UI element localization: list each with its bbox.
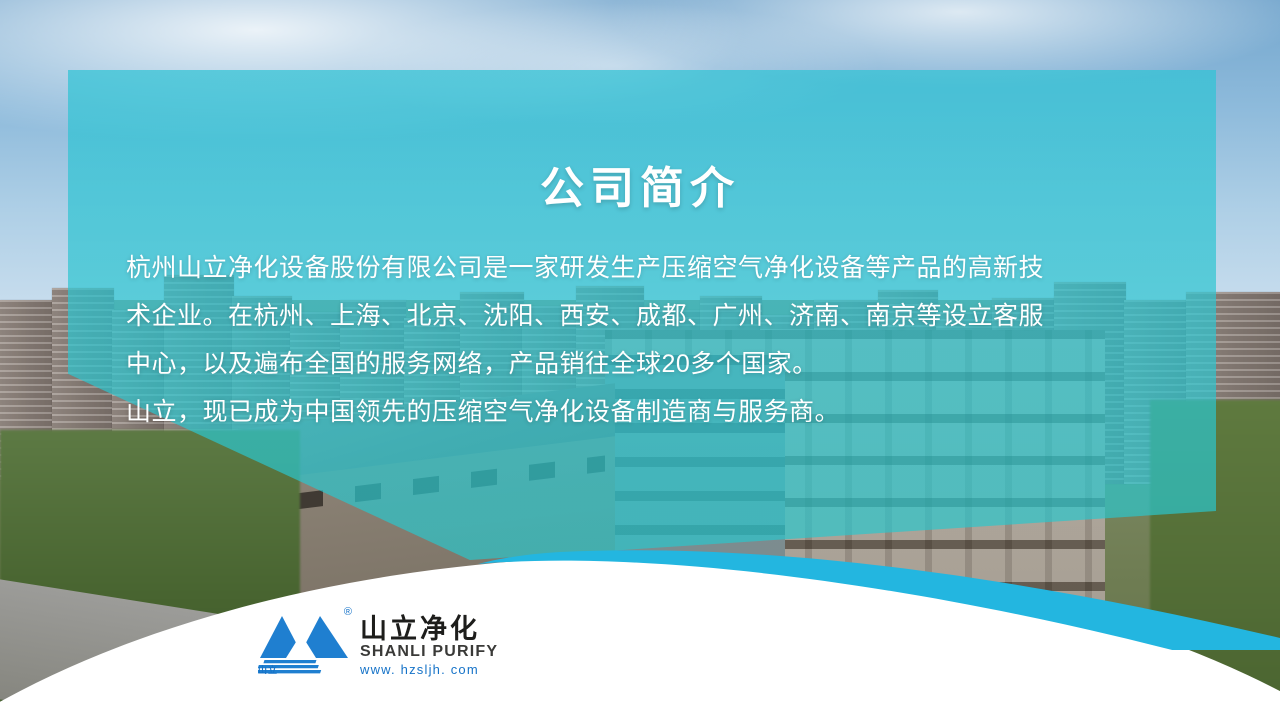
- logo-name-en: SHANLI PURIFY: [360, 643, 498, 661]
- paragraph-line: 山立，现已成为中国领先的压缩空气净化设备制造商与服务商。: [126, 388, 1126, 436]
- logo-name-cn: 山立净化: [360, 615, 498, 643]
- page-title: 公司简介: [0, 152, 1280, 216]
- logo-wordmark: 山立净化 SHANLI PURIFY www. hzsljh. com: [360, 615, 498, 680]
- paragraph-line: 术企业。在杭州、上海、北京、沈阳、西安、成都、广州、济南、南京等设立客服: [126, 292, 1126, 340]
- registered-trademark-icon: ®: [344, 606, 352, 618]
- logo-website: www. hzsljh. com: [360, 662, 498, 678]
- cyan-swoosh-icon: [0, 470, 1280, 650]
- company-logo: 山立 ® 山立净化 SHANLI PURIFY www. hzsljh. com: [258, 606, 498, 680]
- logo-mark-label: 山立: [258, 663, 278, 676]
- paragraph-line: 中心，以及遍布全国的服务网络，产品销往全球20多个国家。: [126, 340, 1126, 388]
- body-text-block: 杭州山立净化设备股份有限公司是一家研发生产压缩空气净化设备等产品的高新技 术企业…: [126, 244, 1126, 436]
- slide-canvas: 公司简介 杭州山立净化设备股份有限公司是一家研发生产压缩空气净化设备等产品的高新…: [0, 0, 1280, 720]
- paragraph-line: 杭州山立净化设备股份有限公司是一家研发生产压缩空气净化设备等产品的高新技: [126, 244, 1126, 292]
- mountain-logo-icon: 山立 ®: [258, 606, 350, 680]
